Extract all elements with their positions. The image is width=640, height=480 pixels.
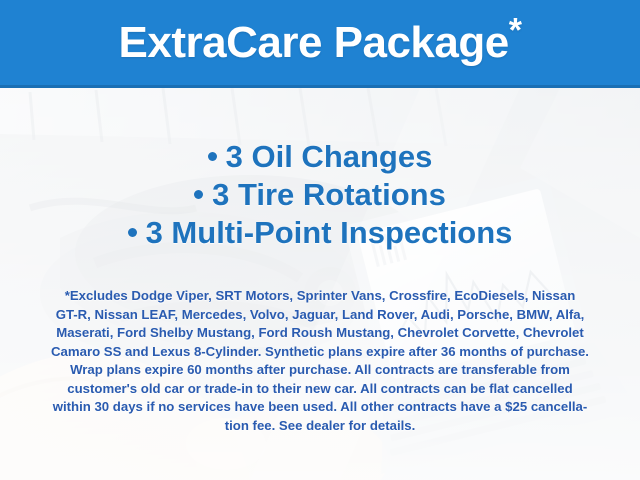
header-banner: ExtraCare Package* — [0, 0, 640, 88]
disclaimer-line: within 30 days if no services have been … — [24, 398, 616, 417]
disclaimer-block: *Excludes Dodge Viper, SRT Motors, Sprin… — [24, 287, 616, 435]
disclaimer-line: Maserati, Ford Shelby Mustang, Ford Rous… — [24, 324, 616, 343]
page-title: ExtraCare Package* — [119, 21, 522, 65]
disclaimer-line: Camaro SS and Lexus 8-Cylinder. Syntheti… — [24, 343, 616, 362]
list-item-label: 3 Tire Rotations — [212, 177, 446, 212]
extracare-package-ad: ExtraCare Package* 3 Oil Changes 3 Tire … — [0, 0, 640, 480]
bullet-dot-icon — [128, 228, 137, 237]
page-title-asterisk: * — [509, 11, 522, 49]
list-item: 3 Oil Changes — [0, 138, 640, 176]
disclaimer-line: GT-R, Nissan LEAF, Mercedes, Volvo, Jagu… — [24, 306, 616, 325]
list-item-label: 3 Oil Changes — [226, 139, 433, 174]
list-item-label: 3 Multi-Point Inspections — [146, 215, 513, 250]
list-item: 3 Multi-Point Inspections — [0, 214, 640, 252]
list-item: 3 Tire Rotations — [0, 176, 640, 214]
bullet-dot-icon — [208, 152, 217, 161]
disclaimer-line: Wrap plans expire 60 months after purcha… — [24, 361, 616, 380]
disclaimer-line: *Excludes Dodge Viper, SRT Motors, Sprin… — [24, 287, 616, 306]
page-title-text: ExtraCare Package — [119, 18, 509, 67]
benefits-list: 3 Oil Changes 3 Tire Rotations 3 Multi-P… — [0, 138, 640, 252]
disclaimer-line: tion fee. See dealer for details. — [24, 417, 616, 436]
bullet-dot-icon — [194, 190, 203, 199]
disclaimer-line: customer's old car or trade-in to their … — [24, 380, 616, 399]
